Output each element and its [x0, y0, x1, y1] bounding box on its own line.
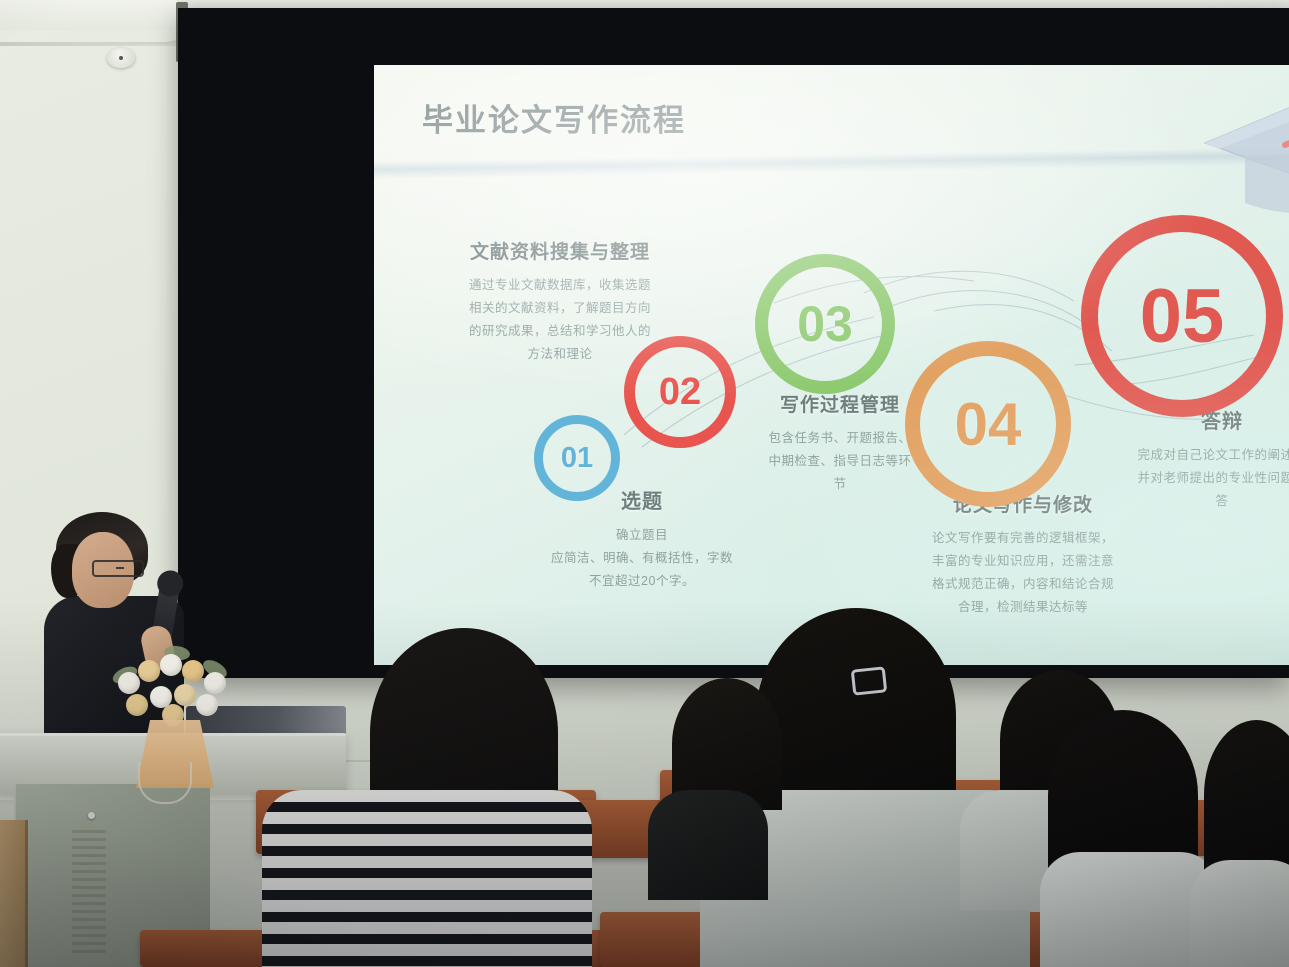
step-number-04: 04	[955, 390, 1022, 459]
audience-member-torso	[648, 790, 768, 900]
step-number-01: 01	[561, 442, 593, 475]
step-number-03: 03	[797, 295, 853, 353]
presentation-slide: 毕业论文写作流程	[374, 65, 1289, 665]
bouquet-ribbon	[138, 762, 192, 804]
flower-bouquet	[110, 642, 238, 762]
step-body-05: 完成对自己论文工作的阐述， 并对老师提出的专业性问题应 答	[1102, 444, 1289, 513]
step-block-02: 文献资料搜集与整理 通过专业文献数据库，收集选题 相关的文献资料，了解题目方向 …	[452, 237, 668, 367]
audience-member-torso	[1190, 860, 1289, 967]
projector-screen-frame: 毕业论文写作流程	[178, 8, 1289, 678]
step-ring-04[interactable]: 04	[905, 341, 1071, 507]
side-cabinet	[0, 820, 28, 967]
hair-clip-icon	[851, 666, 888, 695]
glasses-icon	[92, 560, 144, 577]
step-number-05: 05	[1140, 273, 1225, 360]
step-ring-02[interactable]: 02	[624, 336, 736, 448]
step-ring-01[interactable]: 01	[534, 415, 620, 501]
step-number-02: 02	[659, 371, 701, 414]
step-block-01: 选题 确立题目 应简洁、明确、有概括性，字数 不宜超过20个字。	[522, 485, 762, 593]
step-body-04: 论文写作要有完善的逻辑框架， 丰富的专业知识应用，还需注意 格式规范正确，内容和…	[904, 527, 1142, 620]
step-body-02: 通过专业文献数据库，收集选题 相关的文献资料，了解题目方向 的研究成果，总结和学…	[452, 274, 668, 367]
step-block-05: 答辩 完成对自己论文工作的阐述， 并对老师提出的专业性问题应 答	[1102, 405, 1289, 513]
lectern-vent	[72, 830, 106, 960]
lecture-hall-photo: 毕业论文写作流程	[0, 0, 1289, 967]
step-ring-05[interactable]: 05	[1081, 215, 1283, 417]
step-ring-03[interactable]: 03	[755, 254, 895, 394]
lectern-lock-icon	[88, 812, 95, 819]
audience-member-torso	[262, 790, 592, 967]
step-body-01: 确立题目 应简洁、明确、有概括性，字数 不宜超过20个字。	[522, 524, 762, 593]
smoke-detector-icon	[107, 48, 135, 68]
step-heading-02: 文献资料搜集与整理	[452, 237, 668, 264]
